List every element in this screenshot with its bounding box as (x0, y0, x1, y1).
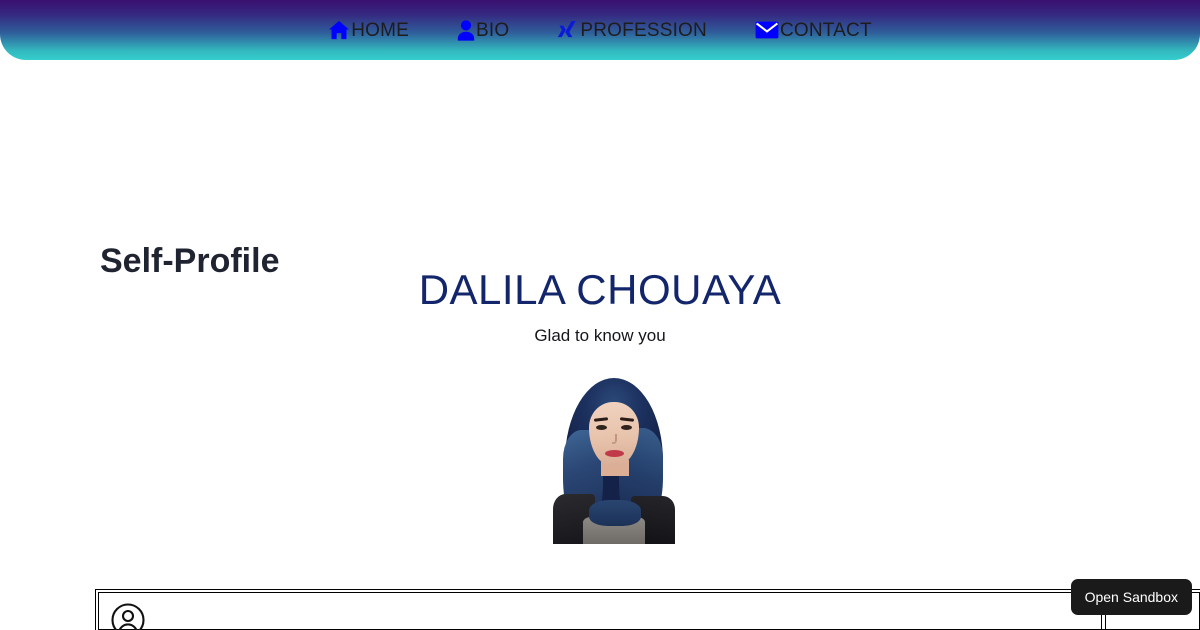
house-icon (328, 20, 350, 40)
open-sandbox-button[interactable]: Open Sandbox (1071, 579, 1192, 615)
nav-item-profession[interactable]: PROFESSION (533, 19, 731, 41)
profile-tagline: Glad to know you (0, 326, 1200, 346)
nav-label-home: HOME (351, 21, 409, 40)
portrait-nose (612, 434, 617, 444)
portrait-eye-right (621, 425, 632, 430)
xing-icon (557, 19, 579, 41)
portrait-illustration (553, 374, 675, 544)
portrait-scarf-bottom (589, 500, 641, 526)
nav-list: HOME BIO PROFESSION (304, 19, 896, 41)
profile-name: DALILA CHOUAYA (0, 266, 1200, 314)
nav-label-profession: PROFESSION (580, 21, 707, 40)
nav-label-contact: CONTACT (780, 21, 872, 40)
envelope-icon (755, 21, 779, 39)
nav-item-contact[interactable]: CONTACT (731, 21, 896, 40)
portrait-eye-left (596, 425, 607, 430)
top-navigation-bar: HOME BIO PROFESSION (0, 0, 1200, 60)
account-circle-icon[interactable] (111, 603, 145, 630)
bottom-panel (98, 592, 1200, 630)
portrait-lips (605, 450, 624, 457)
nav-item-home[interactable]: HOME (304, 20, 433, 40)
nav-label-bio: BIO (476, 21, 509, 40)
page-root: HOME BIO PROFESSION (0, 0, 1200, 630)
profile-heading-block: DALILA CHOUAYA Glad to know you (0, 266, 1200, 347)
nav-item-bio[interactable]: BIO (433, 20, 533, 41)
profile-photo (553, 374, 675, 544)
person-icon (457, 20, 475, 41)
